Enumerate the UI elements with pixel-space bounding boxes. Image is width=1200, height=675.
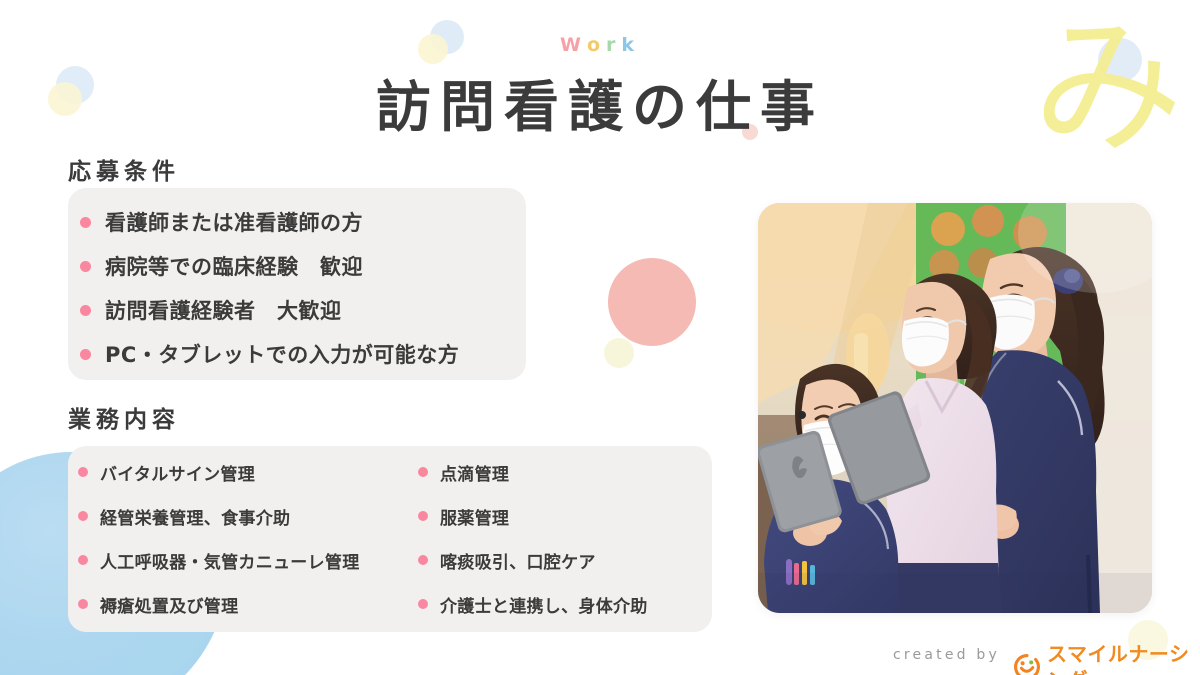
list-item: 人工呼吸器・気管カニューレ管理 (78, 548, 418, 573)
yellow-circle-decoration-center (604, 338, 634, 368)
requirements-list: 看護師または准看護師の方 病院等での臨床経験 歓迎 訪問看護経験者 大歓迎 PC… (80, 200, 526, 376)
smile-nursing-logo-icon (1014, 654, 1040, 675)
eyebrow-letter-2: r (606, 34, 621, 56)
bullet-dot-icon (78, 467, 88, 477)
list-item-label: 経管栄養管理、食事介助 (100, 504, 290, 529)
section-heading-duties: 業務内容 (68, 400, 180, 434)
list-item: 点滴管理 (418, 460, 718, 485)
list-item-label: 病院等での臨床経験 歓迎 (105, 251, 363, 281)
list-item: 服薬管理 (418, 504, 718, 529)
bullet-dot-icon (78, 555, 88, 565)
eyebrow-letter-3: k (621, 34, 640, 56)
bullet-dot-icon (80, 261, 91, 272)
bullet-dot-icon (418, 555, 428, 565)
list-item-label: 喀痰吸引、口腔ケア (440, 548, 596, 573)
list-item-label: 服薬管理 (440, 504, 509, 529)
eyebrow-letter-1: o (587, 34, 606, 56)
section-heading-requirements: 応募条件 (68, 152, 180, 186)
list-item: 介護士と連携し、身体介助 (418, 592, 718, 617)
list-item: PC・タブレットでの入力が可能な方 (80, 332, 526, 376)
eyebrow-work-label: Work (0, 34, 1200, 56)
bullet-dot-icon (80, 217, 91, 228)
list-item: 看護師または准看護師の方 (80, 200, 526, 244)
slide-canvas: み Work 訪問看護の仕事 応募条件 看護師または准看護師の方 病院等での臨床… (0, 0, 1200, 675)
list-item: バイタルサイン管理 (78, 460, 418, 485)
list-item-label: 褥瘡処置及び管理 (100, 592, 238, 617)
bullet-dot-icon (418, 511, 428, 521)
bullet-dot-icon (78, 599, 88, 609)
bullet-dot-icon (80, 349, 91, 360)
page-title: 訪問看護の仕事 (0, 62, 1200, 142)
list-item: 喀痰吸引、口腔ケア (418, 548, 718, 573)
list-item-label: 介護士と連携し、身体介助 (440, 592, 648, 617)
nurses-team-photo (758, 203, 1152, 613)
list-item-label: 看護師または准看護師の方 (105, 207, 363, 237)
list-item-label: 人工呼吸器・気管カニューレ管理 (100, 548, 360, 573)
eyebrow-letter-0: W (560, 34, 587, 56)
brand-name: スマイルナーシング (1047, 641, 1200, 675)
list-item: 病院等での臨床経験 歓迎 (80, 244, 526, 288)
list-item: 経管栄養管理、食事介助 (78, 504, 418, 529)
list-item-label: バイタルサイン管理 (100, 460, 255, 485)
list-item: 褥瘡処置及び管理 (78, 592, 418, 617)
bullet-dot-icon (80, 305, 91, 316)
nurses-team-photo-illustration (758, 203, 1152, 613)
bullet-dot-icon (418, 467, 428, 477)
list-item: 訪問看護経験者 大歓迎 (80, 288, 526, 332)
duties-list: バイタルサイン管理 点滴管理 経管栄養管理、食事介助 服薬管理 人工呼吸器・気管… (78, 450, 718, 628)
created-by-label: created by (893, 647, 1000, 663)
list-item-label: 点滴管理 (440, 460, 509, 485)
pink-circle-decoration (608, 258, 696, 346)
bullet-dot-icon (78, 511, 88, 521)
list-item-label: PC・タブレットでの入力が可能な方 (105, 339, 459, 369)
list-item-label: 訪問看護経験者 大歓迎 (105, 295, 342, 325)
brand-logo[interactable]: スマイルナーシング (1014, 641, 1200, 675)
bullet-dot-icon (418, 599, 428, 609)
